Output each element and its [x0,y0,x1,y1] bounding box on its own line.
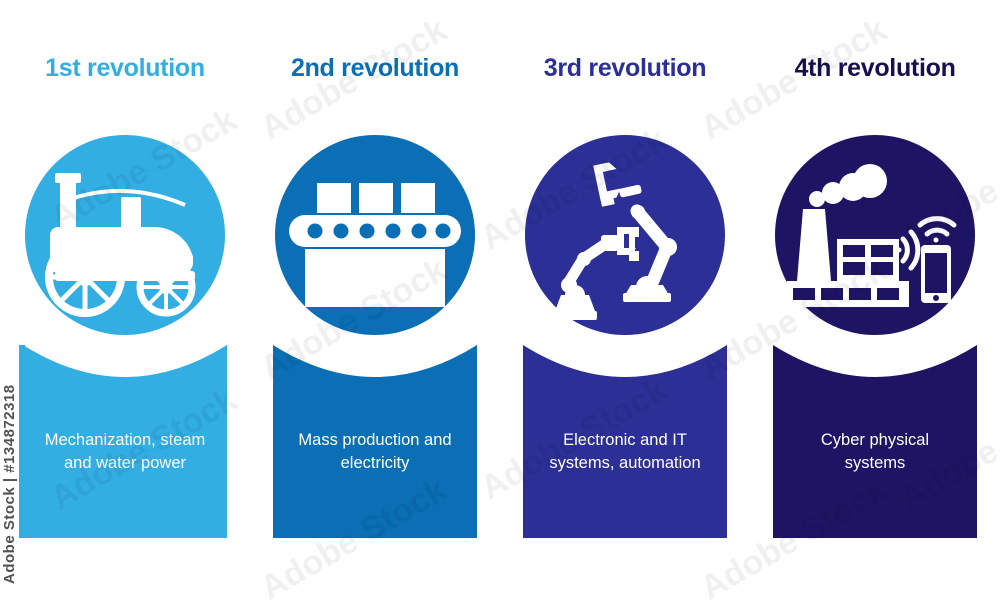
caption-line: Mechanization, steam [45,431,206,449]
caption-line: systems [845,454,906,472]
caption-panel-2: Mass production and electricity [273,345,477,538]
steam-engine-icon [25,135,225,335]
revolution-column-1: 1st revolution [0,0,250,600]
column-title-3: 3rd revolution [500,56,750,81]
caption-panel-1: Mechanization, steam and water power [23,345,227,538]
caption-text-4: Cyber physical systems [773,429,977,476]
column-title-2: 2nd revolution [250,56,500,81]
icon-circle-1 [25,135,225,335]
stock-watermark-text: Adobe Stock | #134872318 [1,334,25,584]
caption-line: Electronic and IT [563,431,687,449]
caption-line: Cyber physical [821,431,929,449]
caption-panel-4: Cyber physical systems [773,345,977,538]
caption-text-1: Mechanization, steam and water power [23,429,227,476]
icon-circle-2 [275,135,475,335]
column-title-4: 4th revolution [750,56,1000,81]
revolution-column-2: 2nd revolution [250,0,500,600]
caption-line: electricity [341,454,410,472]
icon-circle-3 [525,135,725,335]
column-title-1: 1st revolution [0,56,250,81]
revolution-column-3: 3rd revolution [500,0,750,600]
caption-line: systems, automation [549,454,700,472]
caption-line: Mass production and [298,431,451,449]
robot-arms-icon [525,135,725,335]
caption-text-3: Electronic and IT systems, automation [523,429,727,476]
revolution-column-4: 4th revolution [750,0,1000,600]
icon-circle-4 [775,135,975,335]
conveyor-belt-icon [275,135,475,335]
caption-line: and water power [64,454,186,472]
caption-panel-3: Electronic and IT systems, automation [523,345,727,538]
caption-text-2: Mass production and electricity [273,429,477,476]
smart-factory-iot-icon [775,135,975,335]
infographic-canvas: 1st revolution [0,0,1000,600]
